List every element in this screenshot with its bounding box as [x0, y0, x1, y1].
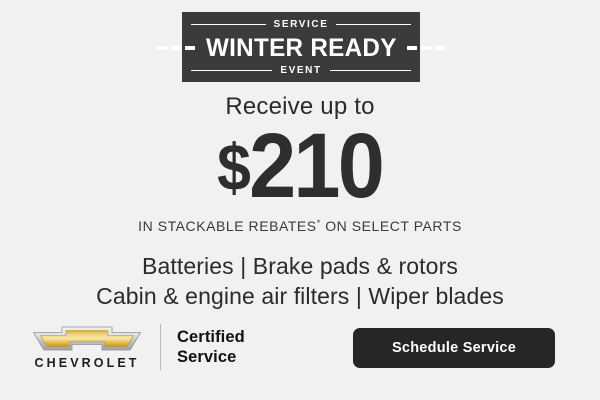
badge-top-label: SERVICE — [274, 19, 329, 30]
amount-digits: 210 — [250, 115, 383, 217]
ad-footer: CHEVROLET Certified Service Schedule Ser… — [0, 318, 600, 380]
service-event-badge: SERVICE WINTER READY EVENT — [182, 12, 420, 82]
advertisement-canvas: SERVICE WINTER READY EVENT Receive up to… — [0, 0, 600, 400]
badge-rule-left — [191, 24, 266, 25]
footer-divider — [160, 324, 161, 370]
eligible-parts-list: Batteries | Brake pads & rotors Cabin & … — [0, 251, 600, 311]
badge-title-row: WINTER READY — [182, 32, 420, 63]
offer-disclaimer: IN STACKABLE REBATES* ON SELECT PARTS — [0, 214, 600, 235]
currency-symbol: $ — [218, 130, 250, 204]
badge-bottom-row: EVENT — [182, 63, 420, 78]
offer-amount-inner: $210 — [218, 120, 383, 212]
dash-group-left-icon — [157, 46, 195, 50]
chevrolet-logo: CHEVROLET — [30, 325, 144, 370]
parts-line-1: Batteries | Brake pads & rotors — [0, 251, 600, 281]
chevrolet-bowtie-icon — [31, 325, 143, 352]
badge-rule-right-2 — [330, 70, 411, 71]
dash-group-right-icon — [407, 46, 445, 50]
badge-bottom-label: EVENT — [280, 65, 321, 76]
disclaimer-text: IN STACKABLE REBATES — [138, 218, 317, 234]
certified-line-1: Certified — [177, 327, 245, 347]
badge-top-row: SERVICE — [182, 17, 420, 32]
schedule-service-button[interactable]: Schedule Service — [353, 328, 555, 368]
disclaimer-tail: ON SELECT PARTS — [321, 218, 462, 234]
certified-service-label: Certified Service — [177, 327, 245, 367]
badge-rule-left-2 — [191, 70, 272, 71]
badge-rule-right — [336, 24, 411, 25]
certified-line-2: Service — [177, 347, 245, 367]
offer-amount: $210 — [0, 120, 600, 212]
parts-line-2: Cabin & engine air filters | Wiper blade… — [0, 281, 600, 311]
chevrolet-wordmark: CHEVROLET — [35, 356, 140, 370]
brand-lockup: CHEVROLET Certified Service — [30, 324, 245, 370]
badge-title: WINTER READY — [206, 34, 397, 62]
